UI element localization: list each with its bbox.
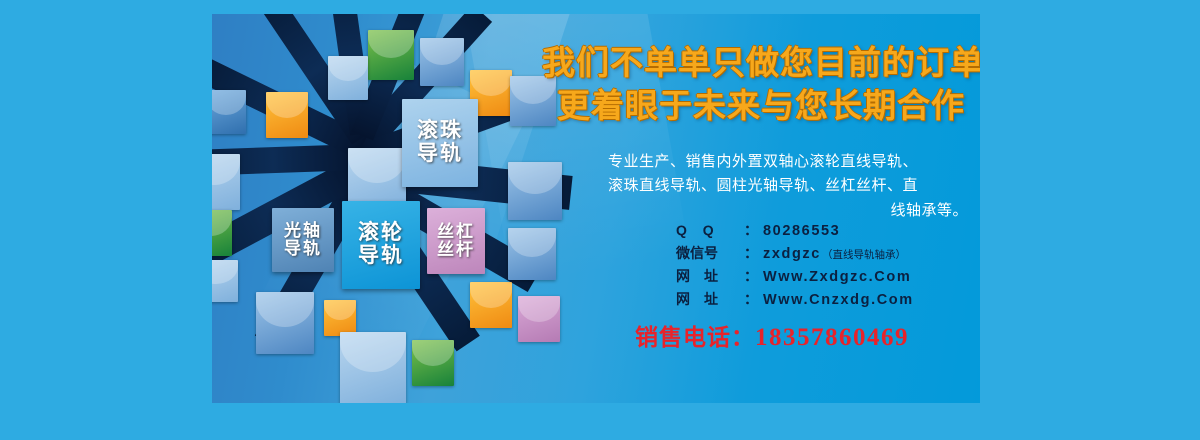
wechat-separator: ： xyxy=(744,243,763,264)
description-text: 专业生产、销售内外置双轴心滚轮直线导轨、 滚珠直线导轨、圆柱光轴导轨、丝杠丝杆、… xyxy=(558,150,968,223)
product-tile-gunlun-daogui[interactable]: 滚轮 导轨 xyxy=(342,201,420,289)
cube-blue xyxy=(340,332,406,403)
description-line1: 专业生产、销售内外置双轴心滚轮直线导轨、 xyxy=(558,150,968,174)
product-tile-line2: 导轨 xyxy=(284,240,322,258)
product-tile-guangzhou-daogui[interactable]: 光轴 导轨 xyxy=(272,208,334,272)
qq-separator: ： xyxy=(744,220,763,241)
banner-panel: 滚珠 导轨 光轴 导轨 滚轮 导轨 丝杠 丝杆 我们不单单只做您目前的订单 更着… xyxy=(212,14,980,403)
cube-cluster-graphic: 滚珠 导轨 光轴 导轨 滚轮 导轨 丝杠 丝杆 xyxy=(212,14,572,403)
contact-info: Q Q ： 80286553 微信号 ： zxdgzc （直线导轨轴承） 网 址… xyxy=(676,220,976,312)
cube-orange xyxy=(470,282,512,328)
wechat-note: （直线导轨轴承） xyxy=(821,248,906,264)
product-tile-line2: 丝杆 xyxy=(437,241,475,259)
product-tile-gunzhu-daogui[interactable]: 滚珠 导轨 xyxy=(402,99,478,187)
copy-block: 我们不单单只做您目前的订单 更着眼于未来与您长期合作 专业生产、销售内外置双轴心… xyxy=(542,14,980,403)
product-tile-line1: 光轴 xyxy=(284,222,322,240)
product-tile-line1: 滚珠 xyxy=(417,120,463,143)
sales-phone[interactable]: 销售电话：18357860469 xyxy=(572,318,972,352)
contact-row-qq: Q Q ： 80286553 xyxy=(676,220,976,242)
product-tile-sigang-sigan[interactable]: 丝杠 丝杆 xyxy=(427,208,485,274)
cube-blue xyxy=(212,90,246,134)
cube-orange xyxy=(324,300,356,336)
wechat-label: 微信号 xyxy=(676,243,744,264)
product-tile-line2: 导轨 xyxy=(358,245,404,268)
website2-label: 网 址 xyxy=(676,289,744,310)
website1-value[interactable]: Www.Zxdgzc.Com xyxy=(763,266,911,288)
cube-green xyxy=(412,340,454,386)
website2-separator: ： xyxy=(744,289,763,310)
cube-green xyxy=(212,210,232,256)
cube-blue xyxy=(212,260,238,302)
product-tile-line1: 滚轮 xyxy=(358,222,404,245)
description-line2: 滚珠直线导轨、圆柱光轴导轨、丝杠丝杆、直 xyxy=(558,174,968,198)
headline-line2: 更着眼于未来与您长期合作 xyxy=(542,85,980,128)
cube-blue xyxy=(420,38,464,86)
product-tile-line1: 丝杠 xyxy=(437,223,475,241)
cube-blue xyxy=(328,56,368,100)
cube-blue xyxy=(212,154,240,210)
qq-label: Q Q xyxy=(676,220,744,241)
headline-line1: 我们不单单只做您目前的订单 xyxy=(542,42,980,85)
contact-row-website-2: 网 址 ： Www.Cnzxdg.Com xyxy=(676,289,976,311)
website1-separator: ： xyxy=(744,266,763,287)
cube-blue xyxy=(256,292,314,354)
cube-green xyxy=(368,30,414,80)
contact-row-wechat: 微信号 ： zxdgzc （直线导轨轴承） xyxy=(676,243,976,265)
cube-orange xyxy=(266,92,308,138)
sales-phone-label: 销售电话： xyxy=(635,324,755,350)
product-tile-line2: 导轨 xyxy=(417,143,463,166)
sales-phone-number[interactable]: 18357860469 xyxy=(755,324,909,351)
wechat-value[interactable]: zxdgzc xyxy=(763,243,821,265)
qq-value[interactable]: 80286553 xyxy=(763,220,840,242)
promo-banner: 滚珠 导轨 光轴 导轨 滚轮 导轨 丝杠 丝杆 我们不单单只做您目前的订单 更着… xyxy=(0,0,1200,440)
website2-value[interactable]: Www.Cnzxdg.Com xyxy=(763,289,914,311)
website1-label: 网 址 xyxy=(676,266,744,287)
contact-row-website-1: 网 址 ： Www.Zxdgzc.Com xyxy=(676,266,976,288)
headline: 我们不单单只做您目前的订单 更着眼于未来与您长期合作 xyxy=(542,42,980,128)
